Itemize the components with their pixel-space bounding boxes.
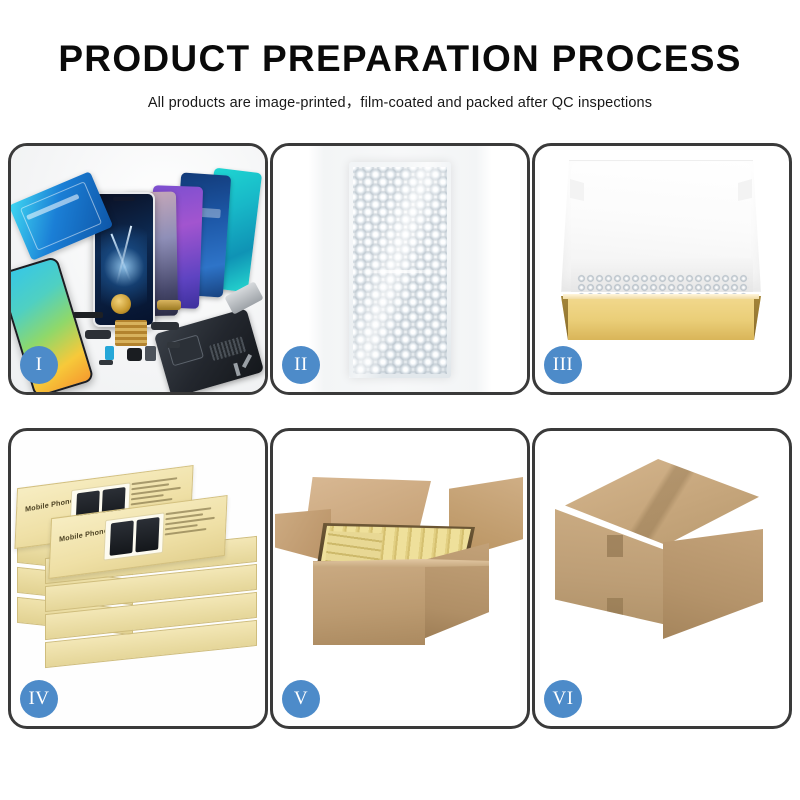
screen-thumb-icon [109, 520, 133, 555]
kraft-box-base-icon [561, 296, 761, 340]
box-stack-icon: Mobile Phone Spare Parts Mobile Phone Sp… [15, 451, 265, 663]
box-front-edge-icon [563, 294, 759, 299]
retail-box-stack-photo: Mobile Phone Spare Parts Mobile Phone Sp… [11, 431, 265, 726]
sealed-carton-photo [535, 431, 789, 726]
antenna-strip-icon [73, 312, 103, 318]
process-steps-grid: I II III [8, 143, 792, 729]
step-badge-1: I [20, 346, 58, 384]
screen-thumb-icon [135, 517, 159, 552]
step-badge-4: IV [20, 680, 58, 718]
copper-coil-icon [111, 294, 131, 314]
process-step-panel-4[interactable]: Mobile Phone Spare Parts Mobile Phone Sp… [8, 428, 268, 729]
product-window-icon [103, 512, 164, 560]
process-step-panel-2[interactable]: II [270, 143, 530, 395]
process-step-panel-5[interactable]: V [270, 428, 530, 729]
camera-module-icon [127, 348, 142, 361]
step-badge-5: V [282, 680, 320, 718]
battery-connector-icon [105, 346, 114, 360]
phone-notch-icon [113, 197, 135, 201]
step-badge-6: VI [544, 680, 582, 718]
small-component-icon [167, 342, 180, 348]
step-badge-2: II [282, 346, 320, 384]
carton-front-panel-icon [313, 561, 425, 645]
page-subtitle: All products are image-printed，film-coat… [0, 91, 800, 112]
page-header: PRODUCT PREPARATION PROCESS All products… [0, 0, 800, 112]
process-step-panel-6[interactable]: VI [532, 428, 792, 729]
flex-cable-icon [85, 330, 111, 339]
flex-cable-icon [151, 322, 179, 330]
process-step-panel-3[interactable]: III [532, 143, 792, 395]
carton-side-panel-icon [663, 529, 763, 639]
spec-lines-icon [165, 506, 219, 535]
flex-cable-gold-icon [157, 300, 181, 310]
bubble-wrap-pouch-icon [349, 162, 451, 378]
page-title: PRODUCT PREPARATION PROCESS [0, 40, 800, 79]
step-badge-3: III [544, 346, 582, 384]
product-preparation-process-page: PRODUCT PREPARATION PROCESS All products… [0, 0, 800, 800]
master-carton-filled-photo [273, 431, 527, 726]
logic-board-icon [115, 320, 147, 346]
plastic-sheen-icon [349, 162, 451, 378]
process-step-panel-1[interactable]: I [8, 143, 268, 395]
small-component-icon [99, 360, 113, 365]
small-component-icon [145, 346, 156, 361]
carton-tab-icon [607, 598, 623, 618]
